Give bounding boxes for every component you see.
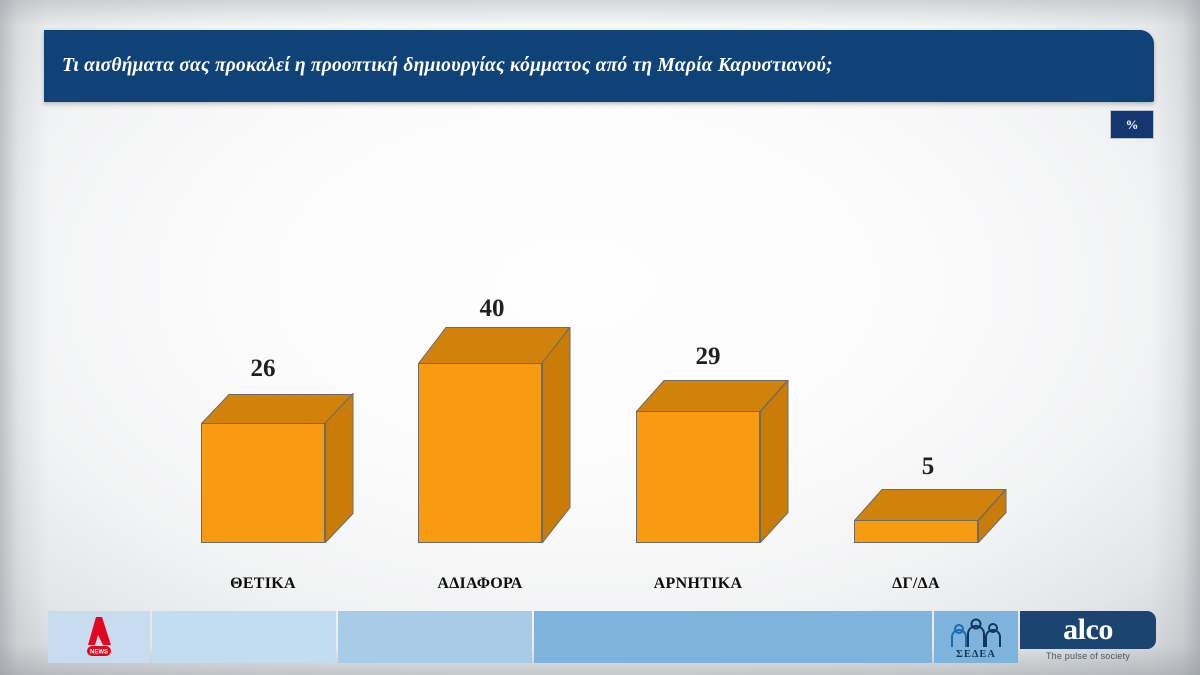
slide-background: Τι αισθήματα σας προκαλεί η προοπτική δη… (0, 0, 1200, 675)
page-title: Τι αισθήματα σας προκαλεί η προοπτική δη… (44, 55, 833, 77)
bar-front-face-1 (201, 423, 325, 543)
bar-side-face-2 (542, 327, 572, 543)
bar-side-face-3 (760, 380, 790, 543)
alco-logo: alco The pulse of society (1020, 611, 1156, 663)
sedea-people-icon (947, 618, 1005, 648)
bar-label-4: ΔΓ/ΔΑ (806, 575, 1026, 593)
bar-label-1: ΘΕΤΙΚΑ (153, 575, 373, 593)
percent-badge: % (1110, 110, 1154, 139)
svg-text:NEWS: NEWS (90, 650, 108, 656)
footer-segment-1 (152, 611, 336, 663)
footer-bar: NEWS (0, 611, 1200, 663)
bar-value-3: 29 (628, 343, 788, 371)
sedea-logo: ΣΕΔΕΑ (934, 611, 1018, 663)
alco-tagline: The pulse of society (1020, 651, 1156, 661)
alco-wordmark: alco (1063, 615, 1113, 645)
alco-logo-box: alco (1020, 611, 1156, 649)
bar-value-1: 26 (183, 355, 343, 383)
footer-segment-3 (534, 611, 932, 663)
bar-value-2: 40 (412, 295, 572, 323)
bar-label-3: ΑΡΝΗΤΙΚΑ (588, 575, 808, 593)
bar-value-4: 5 (848, 453, 1008, 481)
title-bar: Τι αισθήματα σας προκαλεί η προοπτική δη… (44, 30, 1154, 102)
bar-label-2: ΑΔΙΑΦΟΡΑ (370, 575, 590, 593)
bar-front-face-3 (636, 411, 760, 543)
bar-side-face-4 (978, 489, 1008, 543)
alpha-a-icon: NEWS (78, 615, 120, 659)
bar-side-face-1 (325, 393, 355, 543)
bar-front-face-4 (854, 520, 978, 543)
sedea-label: ΣΕΔΕΑ (956, 649, 996, 661)
footer-segment-2 (338, 611, 532, 663)
percent-badge-label: % (1126, 118, 1139, 131)
bar-front-face-2 (418, 363, 542, 543)
alpha-news-logo: NEWS (48, 611, 150, 663)
